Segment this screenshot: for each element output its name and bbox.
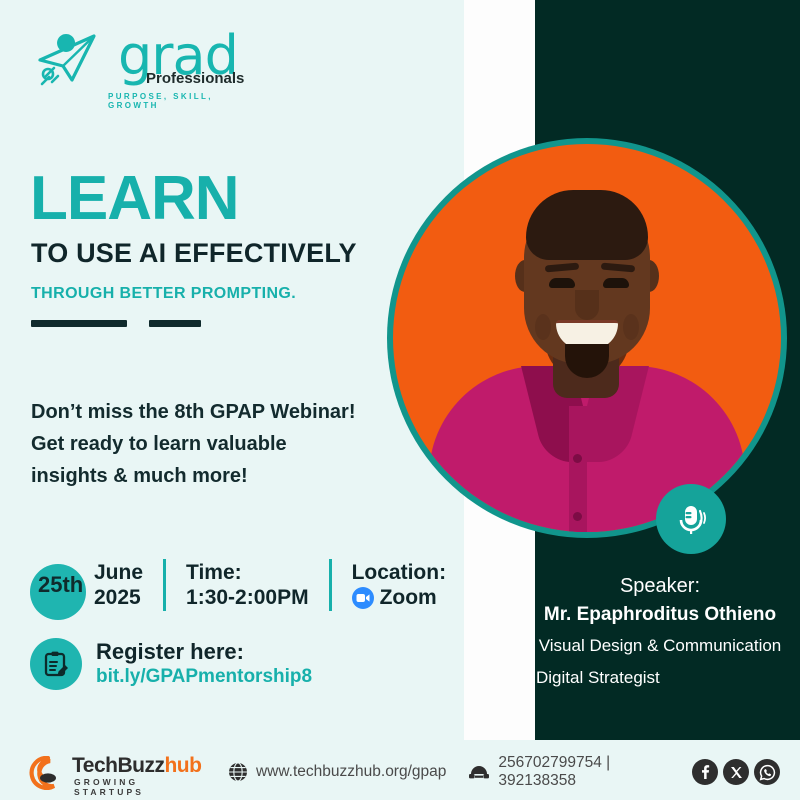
- techbuzz-text: TechBuzz: [72, 754, 164, 777]
- headline-secondary: TO USE AI EFFECTIVELY: [31, 238, 357, 268]
- date-day: 25th: [38, 572, 90, 598]
- time-block: Time: 1:30-2:00PM: [186, 560, 309, 610]
- event-details-row: 25th June 2025 Time: 1:30-2:00PM Locatio…: [30, 552, 446, 618]
- telephone-icon: [468, 763, 490, 781]
- speaker-name: Mr. Epaphroditus Othieno: [520, 600, 800, 630]
- decorative-dashes: [31, 320, 201, 327]
- techbuzzhub-wordmark: TechBuzzhub: [72, 754, 201, 778]
- facebook-icon[interactable]: [692, 759, 718, 785]
- headline-primary: LEARN: [30, 168, 239, 230]
- time-value: 1:30-2:00PM: [186, 585, 309, 610]
- website-text: www.techbuzzhub.org/gpap: [256, 763, 446, 781]
- dash-short: [149, 320, 201, 327]
- detail-divider-2: [329, 559, 332, 611]
- dash-long: [31, 320, 127, 327]
- time-label: Time:: [186, 560, 309, 585]
- speaker-label: Speaker:: [520, 572, 800, 600]
- detail-divider-1: [163, 559, 166, 611]
- phone-text: 256702799754 | 392138358: [498, 754, 692, 790]
- x-twitter-icon[interactable]: [723, 759, 749, 785]
- grad-professionals-logo: grad Professionals PURPOSE, SKILL, GROWT…: [32, 22, 262, 104]
- register-block[interactable]: Register here: bit.ly/GPAPmentorship8: [30, 638, 312, 690]
- whatsapp-icon[interactable]: [754, 759, 780, 785]
- techbuzzhub-logo: TechBuzzhub GROWING STARTUPS: [28, 752, 206, 792]
- microphone-icon: [656, 484, 726, 554]
- location-label: Location:: [352, 560, 447, 585]
- date-year: 2025: [94, 585, 143, 610]
- speaker-role-line2: Digital Strategist: [520, 662, 800, 694]
- register-link[interactable]: bit.ly/GPAPmentorship8: [96, 665, 312, 689]
- footer-bar: TechBuzzhub GROWING STARTUPS www.techbuz…: [0, 744, 800, 800]
- speaker-portrait: [393, 144, 781, 532]
- location-value: Zoom: [380, 585, 437, 610]
- photo-backdrop: [393, 144, 781, 532]
- clipboard-pencil-icon: [30, 638, 82, 690]
- register-label: Register here:: [96, 639, 312, 665]
- techbuzzhub-mark-icon: [28, 756, 68, 790]
- speaker-photo: [387, 138, 787, 538]
- location-block: Location: Zoom: [352, 560, 447, 610]
- hub-text: hub: [164, 754, 201, 777]
- speaker-info: Speaker: Mr. Epaphroditus Othieno Visual…: [520, 572, 800, 694]
- date-month: June: [94, 560, 143, 585]
- body-paragraph: Don’t miss the 8th GPAP Webinar! Get rea…: [31, 396, 361, 492]
- logo-subtitle: Professionals: [146, 70, 244, 87]
- date-month-year: June 2025: [94, 560, 143, 610]
- rocket-icon: [32, 30, 108, 92]
- website-item[interactable]: www.techbuzzhub.org/gpap: [228, 762, 446, 782]
- webinar-poster: grad Professionals PURPOSE, SKILL, GROWT…: [0, 0, 800, 800]
- globe-icon: [228, 762, 248, 782]
- techbuzzhub-tagline: GROWING STARTUPS: [74, 777, 206, 797]
- phone-item: 256702799754 | 392138358: [468, 754, 692, 790]
- speaker-role-line1: Visual Design & Communication: [520, 630, 800, 662]
- logo-tagline: PURPOSE, SKILL, GROWTH: [108, 92, 262, 110]
- headline-tertiary: THROUGH BETTER PROMPTING.: [31, 284, 296, 304]
- social-links: [692, 759, 780, 785]
- zoom-icon: [352, 587, 374, 609]
- date-block: 25th June 2025: [30, 560, 143, 610]
